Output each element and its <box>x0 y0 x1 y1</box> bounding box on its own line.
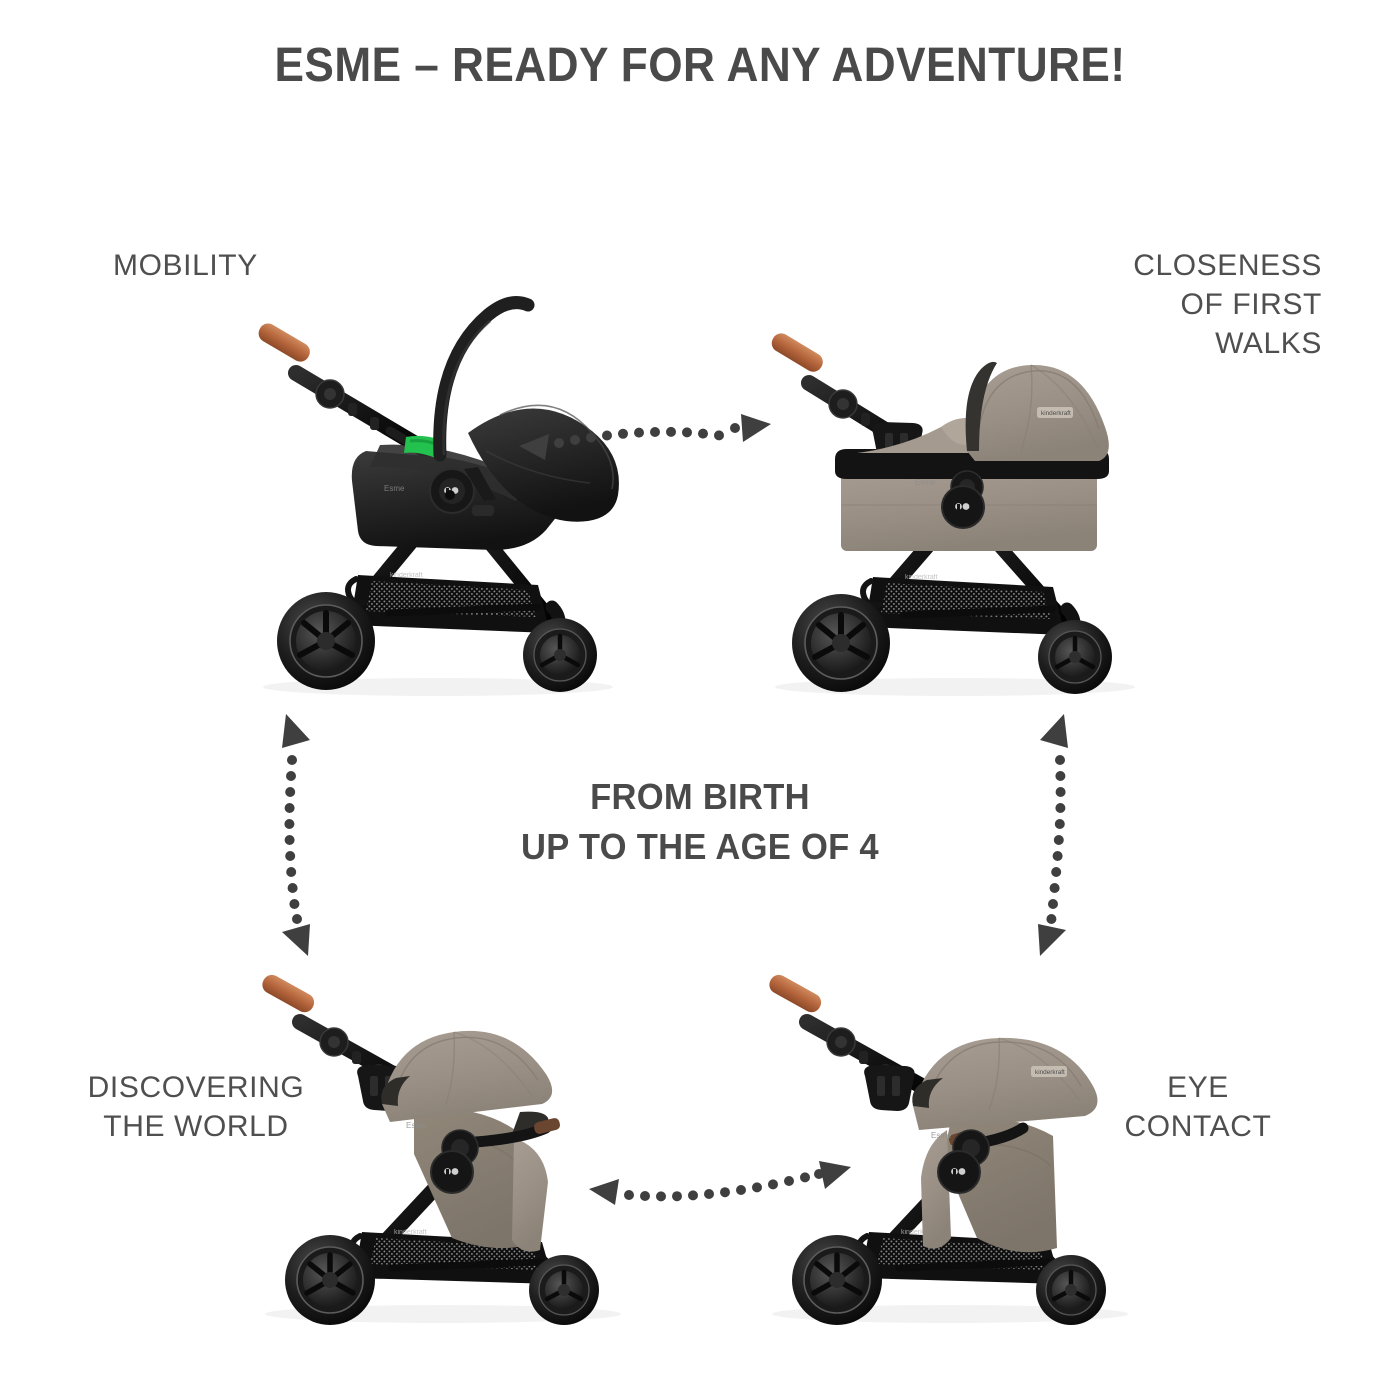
stroller-seat-unit: kinderkraft Esme <box>912 1038 1097 1252</box>
carrycot: kinderkraft Esme <box>835 362 1109 551</box>
svg-text:Esme: Esme <box>406 1121 427 1130</box>
arrowhead-bottom <box>1038 924 1066 956</box>
svg-text:kinderkraft: kinderkraft <box>390 572 423 579</box>
arrowhead-left <box>589 1179 619 1205</box>
arrowhead-top <box>1040 714 1068 748</box>
page-title: ESME – READY FOR ANY ADVENTURE! <box>56 38 1344 93</box>
arrowhead-bottom <box>282 924 310 956</box>
handlebar <box>255 320 434 455</box>
dotted-path <box>284 755 302 924</box>
infographic-page: ESME – READY FOR ANY ADVENTURE! MOBILITY… <box>0 0 1400 1400</box>
arrowhead-top <box>282 714 310 748</box>
handle-grip <box>768 330 826 375</box>
connector-left <box>258 710 338 960</box>
svg-text:kinderkraft: kinderkraft <box>1035 1069 1065 1076</box>
rear-wheel <box>792 594 890 692</box>
dotted-path <box>554 423 740 448</box>
product-carrycot-on-frame[interactable]: kinderkraft <box>745 255 1165 705</box>
product-car-seat-on-frame[interactable]: kinderkraft <box>238 255 658 705</box>
dotted-path <box>1046 755 1065 924</box>
seat-leg-rest <box>512 1138 548 1252</box>
handle-grip <box>255 320 313 365</box>
rear-wheel <box>792 1235 882 1325</box>
arrowhead-left <box>519 434 549 460</box>
svg-text:kinderkraft: kinderkraft <box>905 574 938 581</box>
rear-wheel <box>285 1235 375 1325</box>
svg-text:kinderkraft: kinderkraft <box>394 1229 427 1236</box>
rear-wheel <box>277 592 375 690</box>
handlebar <box>766 972 943 1098</box>
svg-text:Esme: Esme <box>931 1131 952 1140</box>
front-wheel <box>529 1255 599 1325</box>
svg-text:kinderkraft: kinderkraft <box>1041 410 1071 417</box>
front-wheel <box>1036 1255 1106 1325</box>
dotted-path <box>624 1169 824 1201</box>
handle-grip <box>259 972 317 1016</box>
arrowhead-right <box>741 414 771 442</box>
product-seat-unit-parent-facing[interactable]: kinderkraft <box>745 880 1165 1330</box>
cup-holder <box>864 1065 914 1111</box>
connector-right <box>1022 710 1102 960</box>
svg-text:Esme: Esme <box>915 478 936 487</box>
connector-bottom <box>585 1155 855 1225</box>
center-caption: FROM BIRTH UP TO THE AGE OF 4 <box>28 772 1372 871</box>
handle-grip <box>766 972 824 1016</box>
svg-text:Esme: Esme <box>384 484 405 493</box>
connector-top <box>515 398 775 468</box>
label-mobility: MOBILITY <box>113 246 258 285</box>
seat-canopy <box>913 1038 1098 1130</box>
